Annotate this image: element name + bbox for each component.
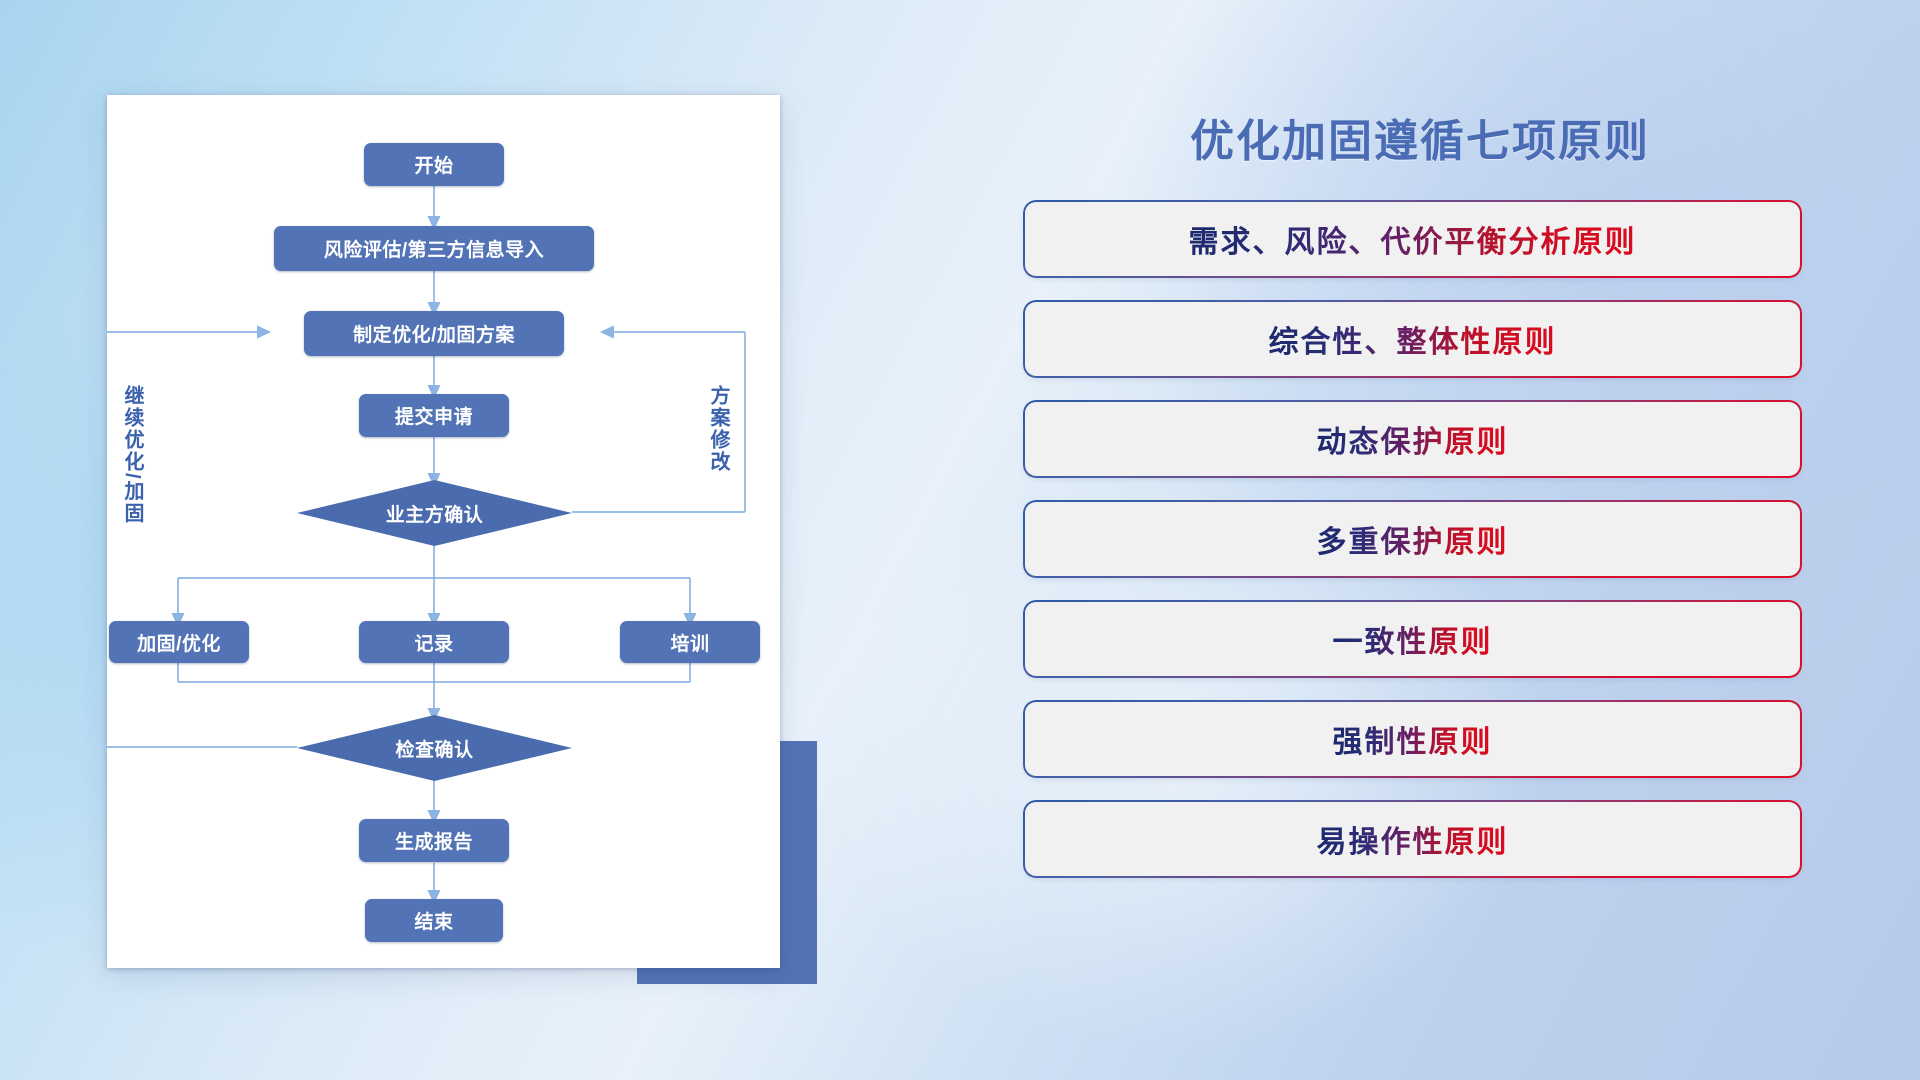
principles-card-list: 需求、风险、代价平衡分析原则 综合性、整体性原则 动态保护原则 多重保护原则 一… xyxy=(1025,202,1800,902)
flow-node-label: 风险评估/第三方信息导入 xyxy=(324,235,544,262)
principle-card[interactable]: 一致性原则 xyxy=(1025,602,1800,676)
principles-title: 优化加固遵循七项原则 xyxy=(1020,105,1820,169)
flowchart-card: 开始 风险评估/第三方信息导入 制定优化/加固方案 提交申请 业主方确认 加固/… xyxy=(107,95,780,968)
flow-node-label: 业主方确认 xyxy=(386,500,484,527)
flow-node-label: 开始 xyxy=(414,151,453,178)
flow-node-submit-application[interactable]: 提交申请 xyxy=(359,394,509,437)
flow-node-label: 提交申请 xyxy=(395,402,473,429)
principle-label: 易操作性原则 xyxy=(1317,817,1509,861)
principle-label: 综合性、整体性原则 xyxy=(1269,317,1557,361)
flow-node-reinforce-optimize[interactable]: 加固/优化 xyxy=(109,621,249,663)
principle-label: 多重保护原则 xyxy=(1317,517,1509,561)
flow-node-end[interactable]: 结束 xyxy=(365,899,503,942)
principle-card[interactable]: 强制性原则 xyxy=(1025,702,1800,776)
principle-card[interactable]: 需求、风险、代价平衡分析原则 xyxy=(1025,202,1800,276)
flow-node-label: 制定优化/加固方案 xyxy=(353,320,515,347)
principle-card[interactable]: 综合性、整体性原则 xyxy=(1025,302,1800,376)
principle-label: 需求、风险、代价平衡分析原则 xyxy=(1189,217,1637,261)
flow-node-generate-report[interactable]: 生成报告 xyxy=(359,819,509,862)
flow-node-plan[interactable]: 制定优化/加固方案 xyxy=(304,311,564,356)
flow-node-label: 加固/优化 xyxy=(137,629,221,656)
flow-node-label: 培训 xyxy=(670,629,709,656)
edge-label-plan-revision: 方案修改 xyxy=(707,385,728,473)
principle-label: 一致性原则 xyxy=(1333,617,1493,661)
principle-card[interactable]: 易操作性原则 xyxy=(1025,802,1800,876)
flow-node-start[interactable]: 开始 xyxy=(364,143,504,186)
principle-label: 强制性原则 xyxy=(1333,717,1493,761)
flow-node-record[interactable]: 记录 xyxy=(359,621,509,663)
flow-node-label: 生成报告 xyxy=(395,827,473,854)
flow-node-label: 检查确认 xyxy=(395,735,473,762)
flow-node-training[interactable]: 培训 xyxy=(620,621,760,663)
flow-node-label: 结束 xyxy=(414,907,453,934)
principle-card[interactable]: 多重保护原则 xyxy=(1025,502,1800,576)
edge-label-continue-optimize: 继续优化/加固 xyxy=(121,385,142,525)
flow-node-risk-assessment[interactable]: 风险评估/第三方信息导入 xyxy=(274,226,594,271)
principle-label: 动态保护原则 xyxy=(1317,417,1509,461)
principles-panel: 优化加固遵循七项原则 需求、风险、代价平衡分析原则 综合性、整体性原则 动态保护… xyxy=(1020,80,1820,1010)
flow-node-label: 记录 xyxy=(414,629,453,656)
flow-node-owner-confirm[interactable]: 业主方确认 xyxy=(297,480,572,546)
slide-canvas: 开始 风险评估/第三方信息导入 制定优化/加固方案 提交申请 业主方确认 加固/… xyxy=(0,0,1920,1080)
principle-card[interactable]: 动态保护原则 xyxy=(1025,402,1800,476)
flow-node-inspection-confirm[interactable]: 检查确认 xyxy=(297,715,572,781)
